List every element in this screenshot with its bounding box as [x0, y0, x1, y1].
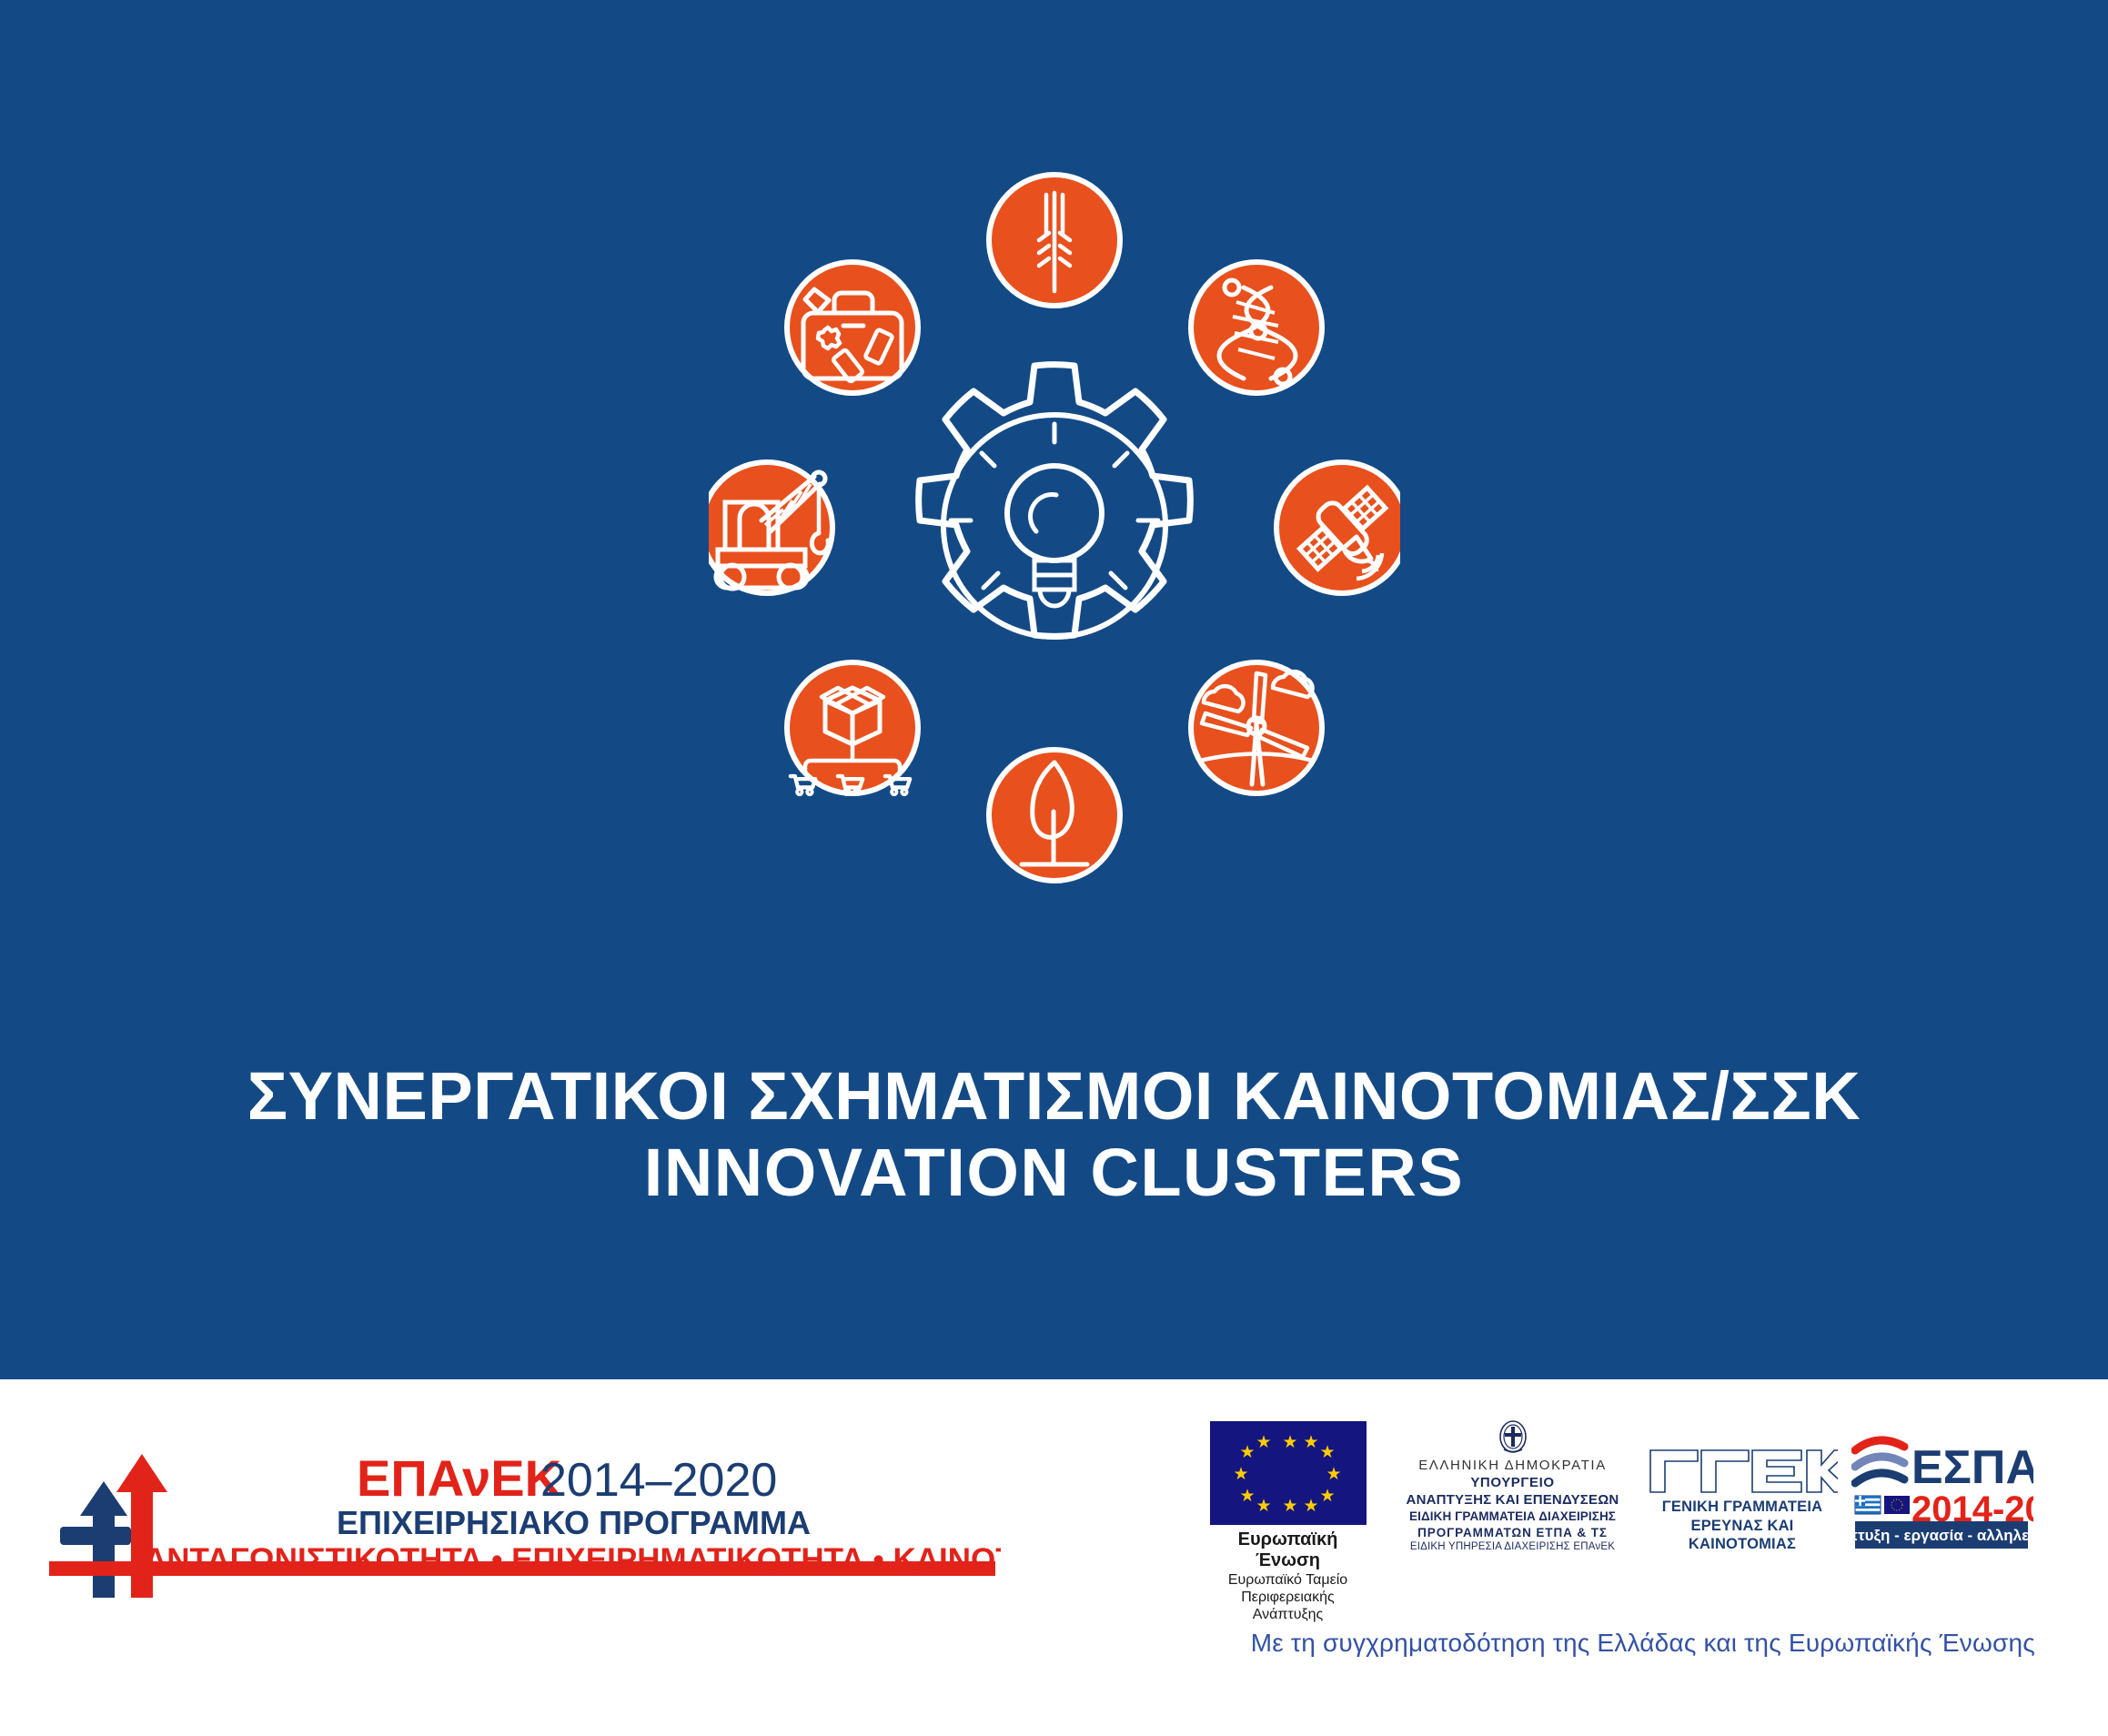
epanek-pillars: ΑΝΤΑΓΩΝΙΣΤΙΚΟΤΗΤΑ • ΕΠΙΧΕΙΡΗΜΑΤΙΚΟΤΗΤΑ •… [144, 1542, 1001, 1578]
ggek-acronym-mark-icon [1647, 1445, 1838, 1494]
ministry-line-programmes: ΠΡΟΓΡΑΜΜΑΤΩΝ ΕΤΠΑ & ΤΣ [1392, 1525, 1633, 1541]
cluster-icon-satellite [1276, 462, 1400, 593]
espa-waves-icon [1855, 1440, 1904, 1483]
poster-titles: ΣΥΝΕΡΓΑΤΙΚΟΙ ΣΧΗΜΑΤΙΣΜΟΙ ΚΑΙΝΟΤΟΜΙΑΣ/ΣΣΚ… [0, 1063, 2108, 1206]
cluster-icon-toolbox [787, 262, 918, 393]
poster: ΣΥΝΕΡΓΑΤΙΚΟΙ ΣΧΗΜΑΤΙΣΜΟΙ ΚΑΙΝΟΤΟΜΙΑΣ/ΣΣΚ… [0, 0, 2108, 1736]
eu-label-regional: Περιφερειακής Ανάπτυξης [1208, 1589, 1367, 1623]
ministry-line-secretariat: ΕΙΔΙΚΗ ΓΡΑΜΜΑΤΕΙΑ ΔΙΑΧΕΙΡΙΣΗΣ [1392, 1509, 1633, 1525]
epanek-logo: ΕΠΑνΕΚ 2014–2020 ΕΠΙΧΕΙΡΗΣΙΑΚΟ ΠΡΟΓΡΑΜΜΑ… [36, 1425, 1001, 1607]
hero-section: ΣΥΝΕΡΓΑΤΙΚΟΙ ΣΧΗΜΑΤΙΣΜΟΙ ΚΑΙΝΟΤΟΜΙΑΣ/ΣΣΚ… [0, 0, 2108, 1379]
innovation-cluster-graphic [709, 135, 1400, 917]
eu-flag-small-icon [1884, 1496, 1910, 1514]
epanek-programme: ΕΠΙΧΕΙΡΗΣΙΑΚΟ ΠΡΟΓΡΑΜΜΑ [337, 1504, 811, 1541]
hellenic-republic-emblem-icon [1498, 1419, 1528, 1454]
ggek-logo: ΓΕΝΙΚΗ ΓΡΑΜΜΑΤΕΙΑ ΕΡΕΥΝΑΣ ΚΑΙ ΚΑΙΝΟΤΟΜΙΑ… [1647, 1445, 1838, 1554]
epanek-acronym: ΕΠΑνΕΚ [357, 1449, 561, 1507]
gear-lightbulb-icon [918, 365, 1190, 637]
cluster-icon-supply-chain [787, 662, 918, 794]
eu-label-union: Ευρωπαϊκή Ένωση [1208, 1529, 1367, 1571]
greek-flag-icon [1855, 1496, 1881, 1514]
ministry-logo: ΕΛΛΗΝΙΚΗ ΔΗΜΟΚΡΑΤΙΑ ΥΠΟΥΡΓΕΙΟ ΑΝΑΠΤΥΞΗΣ … [1392, 1419, 1633, 1555]
eu-label-fund: Ευρωπαϊκό Ταμείο [1208, 1571, 1367, 1589]
funding-footer: ΕΠΑνΕΚ 2014–2020 ΕΠΙΧΕΙΡΗΣΙΑΚΟ ΠΡΟΓΡΑΜΜΑ… [0, 1379, 2108, 1736]
eu-logo: ★ ★ ★ ★ ★ ★ ★ ★ ★ ★ ★ ★ Ευρωπαϊκή Ένωση … [1208, 1421, 1367, 1624]
eu-flag-icon: ★ ★ ★ ★ ★ ★ ★ ★ ★ ★ ★ ★ [1210, 1421, 1367, 1525]
page-title-greek: ΣΥΝΕΡΓΑΤΙΚΟΙ ΣΧΗΜΑΤΙΣΜΟΙ ΚΑΙΝΟΤΟΜΙΑΣ/ΣΣΚ [0, 1063, 2108, 1130]
cluster-icon-tree [989, 750, 1120, 881]
ministry-line-republic: ΕΛΛΗΝΙΚΗ ΔΗΜΟΚΡΑΤΙΑ [1392, 1458, 1633, 1475]
espa-acronym: ΕΣΠΑ [1911, 1441, 2033, 1494]
epanek-years: 2014–2020 [540, 1454, 777, 1507]
cluster-icon-wind-turbine [1191, 662, 1322, 793]
ministry-line-development: ΑΝΑΠΤΥΞΗΣ ΚΑΙ ΕΠΕΝΔΥΣΕΩΝ [1392, 1492, 1633, 1509]
logo-row: ΕΠΑνΕΚ 2014–2020 ΕΠΙΧΕΙΡΗΣΙΑΚΟ ΠΡΟΓΡΑΜΜΑ… [0, 1379, 2108, 1652]
page-title-english: INNOVATION CLUSTERS [0, 1139, 2108, 1206]
cofinancing-tagline: Με τη συγχρηματοδότηση της Ελλάδας και τ… [1251, 1629, 2035, 1658]
ggek-line-2: ΕΡΕΥΝΑΣ ΚΑΙ ΚΑΙΝΟΤΟΜΙΑΣ [1647, 1517, 1838, 1554]
ministry-line-ministry: ΥΠΟΥΡΓΕΙΟ [1392, 1475, 1633, 1492]
cluster-icon-crane [709, 462, 832, 593]
ministry-line-service: ΕΙΔΙΚΗ ΥΠΗΡΕΣΙΑ ΔΙΑΧΕΙΡΙΣΗΣ ΕΠΑνΕΚ [1392, 1540, 1633, 1555]
espa-logo: ΕΣΠΑ 2014-2020 [1851, 1430, 2033, 1562]
ggek-line-1: ΓΕΝΙΚΗ ΓΡΑΜΜΑΤΕΙΑ [1647, 1498, 1838, 1517]
espa-motto: ανάπτυξη - εργασία - αλληλεγγύη [1851, 1527, 2033, 1544]
cluster-icon-wheat [989, 175, 1120, 306]
cluster-icon-dna [1191, 262, 1322, 393]
